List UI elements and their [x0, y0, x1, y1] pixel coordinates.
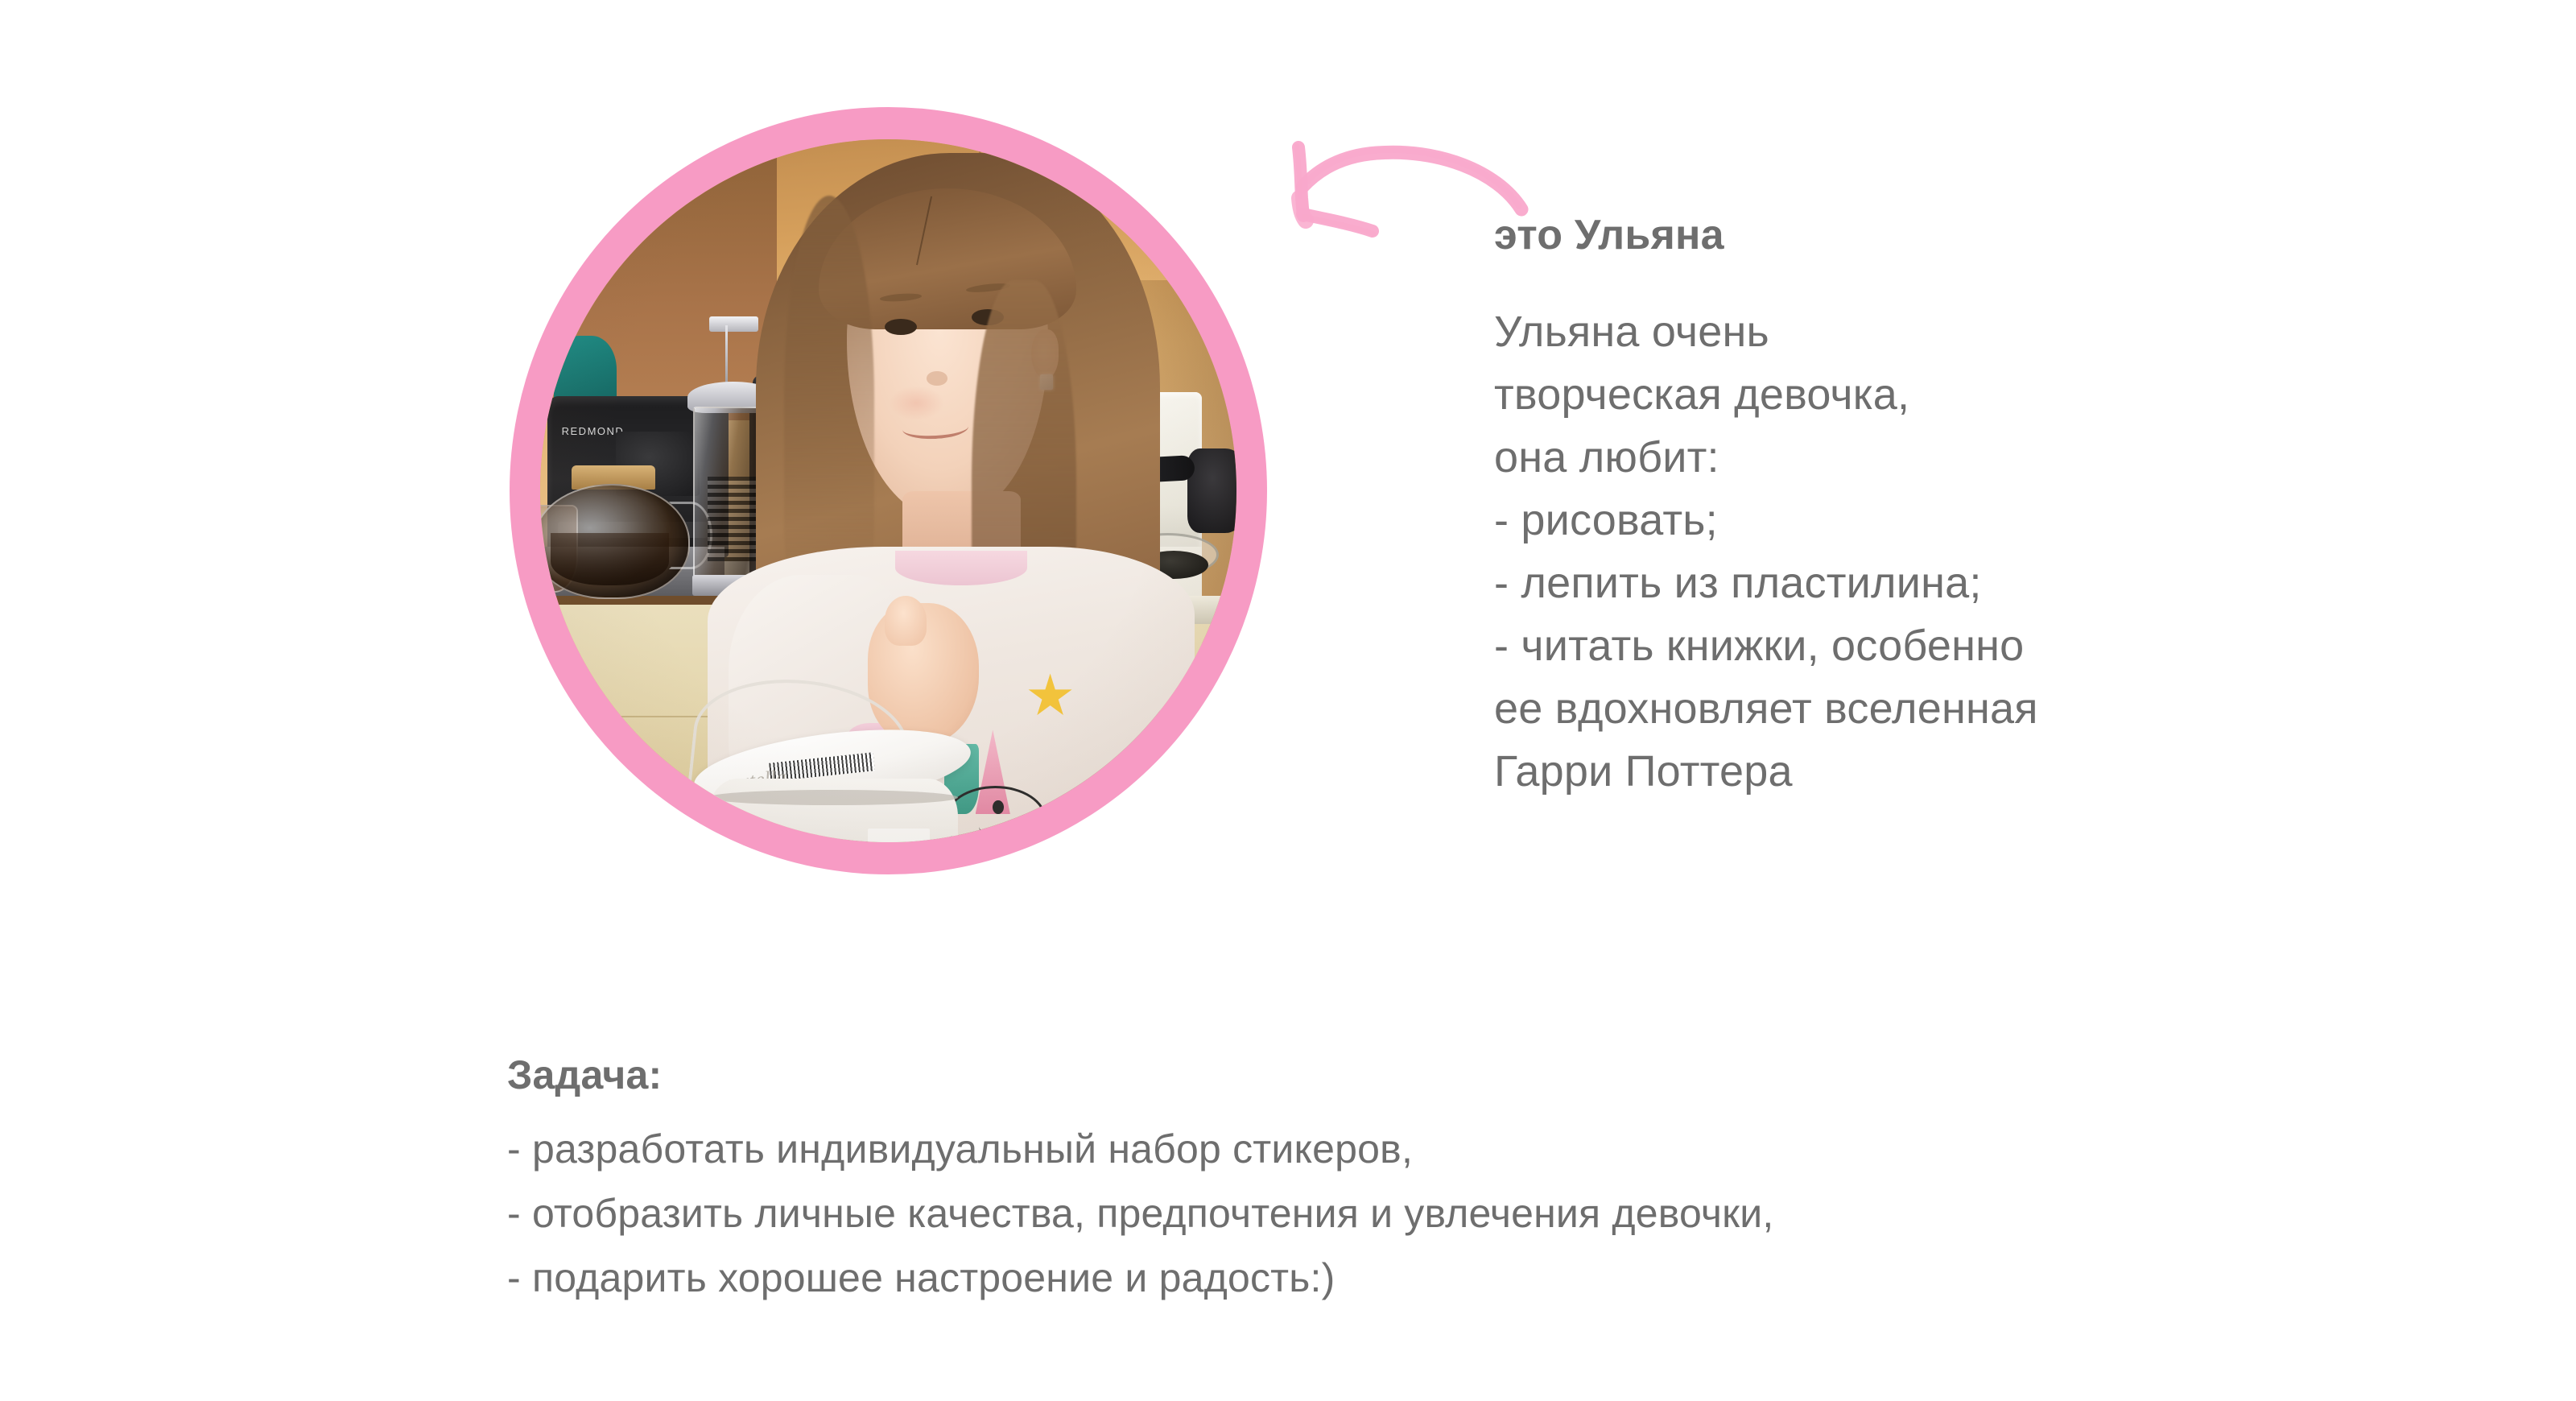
- task-item: - разработать индивидуальный набор стике…: [507, 1117, 2278, 1181]
- task-item: - отобразить личные качества, предпочтен…: [507, 1181, 2278, 1246]
- multicooker-brand-label: REDMOND: [562, 425, 625, 437]
- task-title: Задача:: [507, 1051, 2278, 1099]
- intro-line: она любит:: [1494, 426, 2299, 489]
- girl-cheek: [889, 386, 944, 421]
- task-list: - разработать индивидуальный набор стике…: [507, 1117, 2278, 1310]
- bucket-rim: [708, 790, 958, 805]
- girl-eye-left: [885, 319, 917, 335]
- french-press-reflection: [708, 477, 763, 561]
- bucket-label: [868, 829, 931, 842]
- intro-title: это Ульяна: [1494, 211, 2299, 260]
- intro-line: ее вдохновляет вселенная: [1494, 677, 2299, 740]
- intro-line: Гарри Поттера: [1494, 740, 2299, 803]
- intro-line: - рисовать;: [1494, 489, 2299, 552]
- portrait-photo-frame: REDMOND ТРА: [510, 107, 1267, 874]
- portrait-photo: REDMOND ТРА: [540, 139, 1236, 842]
- intro-line: Ульяна очень: [1494, 300, 2299, 363]
- teapot-tea: [551, 533, 669, 585]
- intro-line: - читать книжки, особенно: [1494, 614, 2299, 677]
- intro-line: творческая девочка,: [1494, 363, 2299, 426]
- photo-scene: REDMOND ТРА: [540, 139, 1236, 842]
- intro-line: - лепить из пластилина;: [1494, 552, 2299, 614]
- shirt-unicorn-smile: [979, 817, 1013, 835]
- french-press-rod: [725, 325, 728, 389]
- french-press-knob: [709, 316, 758, 332]
- task-text-block: Задача: - разработать индивидуальный наб…: [507, 1051, 2278, 1310]
- shirt-unicorn-eye: [993, 800, 1004, 814]
- girl-nose: [927, 371, 947, 385]
- frying-pan: [1187, 448, 1236, 533]
- girl-hair-strand: [784, 196, 874, 603]
- girl-finger: [885, 596, 927, 645]
- intro-text-block: это Ульяна Ульяна очень творческая девоч…: [1494, 211, 2299, 803]
- task-item: - подарить хорошее настроение и радость:…: [507, 1246, 2278, 1310]
- intro-body: Ульяна очень творческая девочка, она люб…: [1494, 300, 2299, 803]
